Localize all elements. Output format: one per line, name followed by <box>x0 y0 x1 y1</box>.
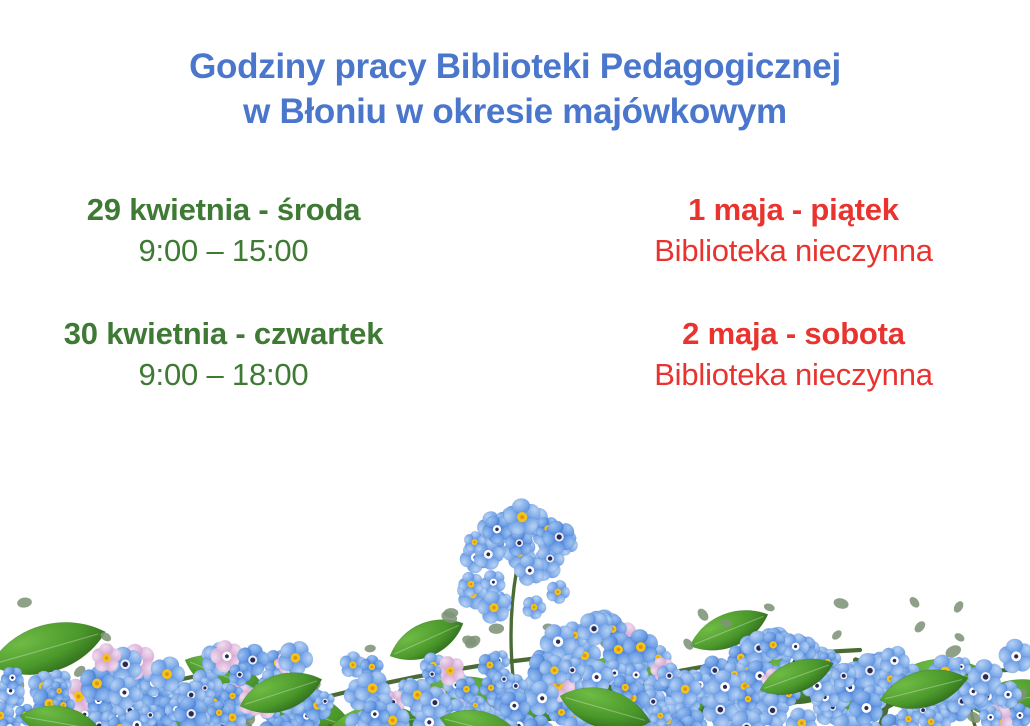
schedule-entry-1-maja: 1 maja - piątek Biblioteka nieczynna <box>515 190 1030 272</box>
page-title: Godziny pracy Biblioteki Pedagogicznej w… <box>0 44 1030 134</box>
schedule-row: 30 kwietnia - czwartek 9:00 – 18:00 2 ma… <box>0 314 1030 396</box>
schedule-detail-label: Biblioteka nieczynna <box>557 354 1030 396</box>
poster: Godziny pracy Biblioteki Pedagogicznej w… <box>0 0 1030 726</box>
schedule-day-label: 30 kwietnia - czwartek <box>0 314 447 354</box>
schedule-entry-29-kwietnia: 29 kwietnia - środa 9:00 – 15:00 <box>0 190 515 272</box>
schedule-day-label: 29 kwietnia - środa <box>0 190 447 230</box>
title-line-1: Godziny pracy Biblioteki Pedagogicznej <box>0 44 1030 89</box>
schedule-entry-2-maja: 2 maja - sobota Biblioteka nieczynna <box>515 314 1030 396</box>
schedule-detail-label: 9:00 – 18:00 <box>0 354 447 396</box>
schedule-entry-30-kwietnia: 30 kwietnia - czwartek 9:00 – 18:00 <box>0 314 515 396</box>
schedule-grid: 29 kwietnia - środa 9:00 – 15:00 1 maja … <box>0 190 1030 396</box>
schedule-row: 29 kwietnia - środa 9:00 – 15:00 1 maja … <box>0 190 1030 272</box>
schedule-detail-label: Biblioteka nieczynna <box>557 230 1030 272</box>
title-line-2: w Błoniu w okresie majówkowym <box>0 89 1030 134</box>
schedule-day-label: 1 maja - piątek <box>557 190 1030 230</box>
schedule-detail-label: 9:00 – 15:00 <box>0 230 447 272</box>
forget-me-not-border-illustration <box>0 460 1030 726</box>
schedule-day-label: 2 maja - sobota <box>557 314 1030 354</box>
